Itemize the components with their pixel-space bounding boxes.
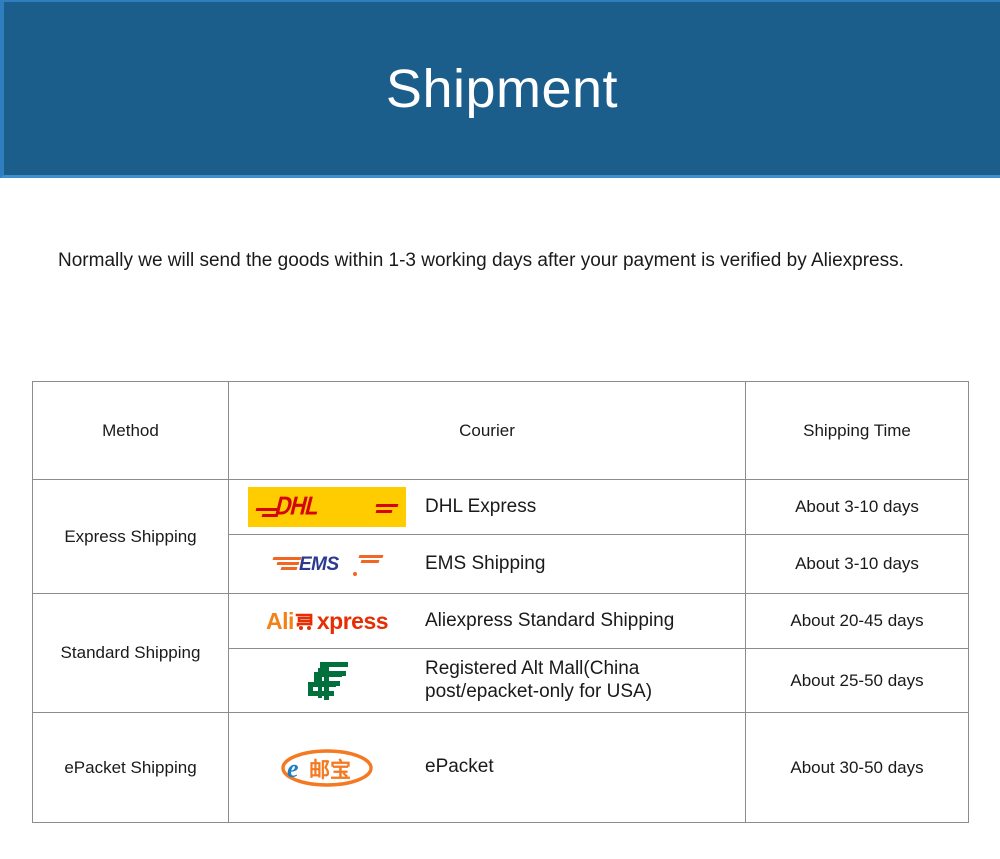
shipping-time-value: About 3-10 days [746, 480, 969, 535]
aliexpress-logo: Ali xpress [266, 605, 388, 637]
dhl-speedline-icon [376, 504, 399, 507]
header-shipping-time: Shipping Time [746, 382, 969, 480]
courier-cell-dhl: DHL DHL Express [229, 480, 746, 535]
svg-text:e: e [287, 754, 299, 783]
method-epacket-shipping: ePacket Shipping [33, 713, 229, 823]
ems-chevron-icon [277, 562, 300, 565]
shipment-intro-text: Normally we will send the goods within 1… [58, 233, 958, 289]
table-header-row: Method Courier Shipping Time [33, 382, 969, 480]
courier-name: EMS Shipping [425, 553, 545, 575]
shipping-time-value: About 30-50 days [746, 713, 969, 823]
logo-slot [229, 658, 425, 704]
courier-cell-epacket: e 邮宝 ePacket [229, 713, 746, 823]
method-express-shipping: Express Shipping [33, 480, 229, 594]
ems-chevron-icon [359, 555, 384, 558]
shopping-cart-icon [295, 610, 317, 632]
aliexpress-logo-text-xpress: xpress [317, 608, 388, 635]
dhl-logo: DHL [248, 487, 406, 527]
shipping-time-value: About 3-10 days [746, 535, 969, 594]
china-post-logo [300, 658, 354, 704]
logo-slot: DHL [229, 487, 425, 527]
courier-name: ePacket [425, 756, 494, 778]
shipping-time-value: About 25-50 days [746, 649, 969, 713]
logo-slot: e 邮宝 [229, 745, 425, 791]
shipping-methods-table: Method Courier Shipping Time Express Shi… [32, 381, 969, 823]
logo-slot: EMS [229, 547, 425, 581]
ems-chevron-icon [273, 557, 302, 560]
courier-cell-china-post: Registered Alt Mall(China post/epacket-o… [229, 649, 746, 713]
page-title: Shipment [386, 62, 618, 116]
epacket-logo: e 邮宝 [275, 745, 379, 791]
ems-dot-icon [353, 572, 357, 576]
header-courier: Courier [229, 382, 746, 480]
dhl-speedline-icon [376, 510, 393, 513]
courier-name-line2: post/epacket-only for USA) [425, 681, 652, 703]
courier-cell-aliexpress: Ali xpress [229, 594, 746, 649]
courier-name: Aliexpress Standard Shipping [425, 610, 674, 632]
logo-slot: Ali xpress [229, 605, 425, 637]
shipping-time-value: About 20-45 days [746, 594, 969, 649]
ems-chevron-icon [361, 560, 380, 563]
ems-logo: EMS [271, 547, 383, 581]
ems-logo-text: EMS [299, 554, 339, 576]
courier-cell-ems: EMS EMS Shipping [229, 535, 746, 594]
courier-name: DHL Express [425, 496, 536, 518]
table-row: Express Shipping DHL DHL Express [33, 480, 969, 535]
aliexpress-logo-text-ali: Ali [266, 608, 294, 635]
page-header-banner: Shipment [0, 0, 1000, 178]
ems-chevron-icon [281, 567, 298, 570]
table-row: Standard Shipping Ali [33, 594, 969, 649]
method-standard-shipping: Standard Shipping [33, 594, 229, 713]
svg-text:邮宝: 邮宝 [309, 758, 351, 782]
header-method: Method [33, 382, 229, 480]
courier-name-line1: Registered Alt Mall(China [425, 658, 652, 680]
dhl-logo-text: DHL [272, 491, 322, 522]
courier-name-multiline: Registered Alt Mall(China post/epacket-o… [425, 658, 652, 703]
table-row: ePacket Shipping e 邮宝 ePacket [33, 713, 969, 823]
